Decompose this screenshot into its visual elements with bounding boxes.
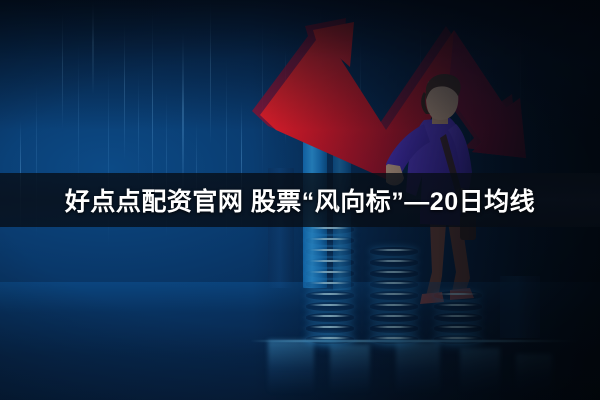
page-title: 好点点配资官网 股票“风向标”—20日均线 bbox=[0, 173, 600, 227]
banner-image: 好点点配资官网 股票“风向标”—20日均线 bbox=[0, 0, 600, 400]
